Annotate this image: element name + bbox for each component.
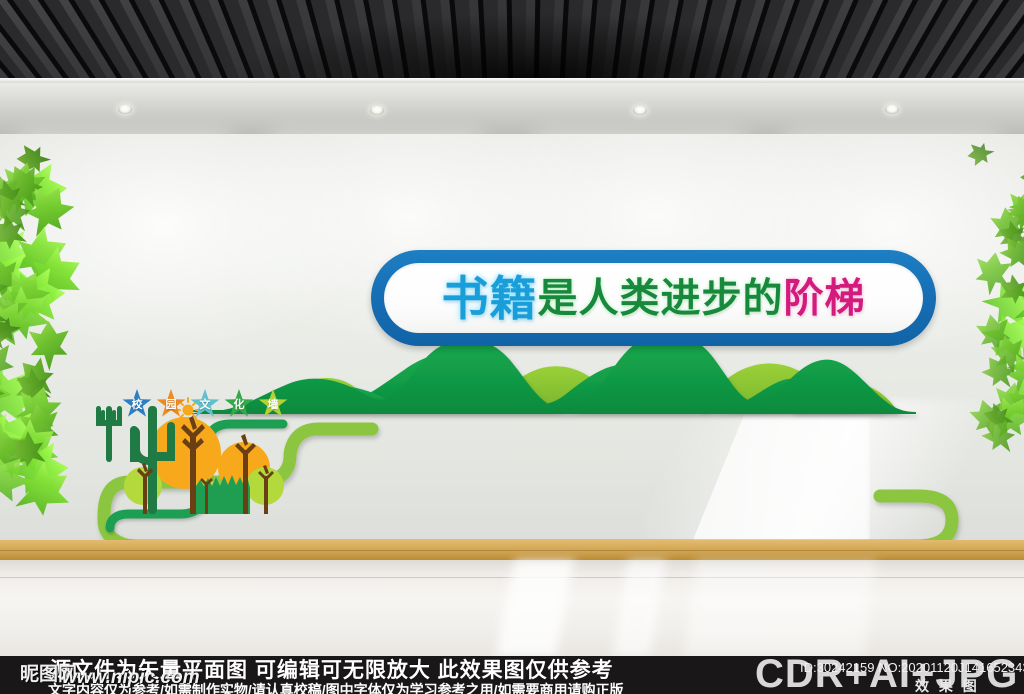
title-banner: 书籍是人类进步的阶梯 bbox=[371, 250, 936, 346]
screenshot-root: 书籍是人类进步的阶梯 校 园 文 化 墙 源文件为矢量平面图 可编辑可无限放大 … bbox=[0, 0, 1024, 694]
downlight-4 bbox=[885, 105, 899, 114]
soffit-panel bbox=[0, 78, 1024, 134]
star-badge-1-label: 校 bbox=[132, 400, 143, 411]
title-banner-inner: 书籍是人类进步的阶梯 bbox=[384, 263, 923, 333]
wall-graphic: 书籍是人类进步的阶梯 校 园 文 化 墙 bbox=[0, 134, 1024, 546]
wood-baseboard bbox=[0, 540, 1024, 560]
title-text: 书籍是人类进步的阶梯 bbox=[442, 275, 866, 322]
footer-id: ID:30242159 NO:20201120J141652343000 bbox=[800, 660, 1024, 675]
title-part-green: 是人类进步的 bbox=[538, 276, 784, 320]
star-badge-5-label: 墙 bbox=[268, 400, 279, 411]
ceiling-slat-gap bbox=[533, 0, 541, 78]
star-badge-2-label: 园 bbox=[166, 400, 177, 411]
star-badge-3-label: 文 bbox=[200, 400, 211, 411]
title-part-blue: 书籍 bbox=[442, 272, 538, 325]
downlight-2 bbox=[370, 106, 384, 115]
ceiling-slat-gap bbox=[506, 0, 514, 78]
downlight-3 bbox=[633, 106, 647, 115]
marble-floor bbox=[0, 560, 1024, 656]
star-badge-4-label: 化 bbox=[234, 400, 245, 411]
title-part-pink: 阶梯 bbox=[784, 276, 866, 320]
footer-render-label: 效 果 图 bbox=[915, 676, 980, 694]
floor-seam bbox=[0, 577, 1024, 578]
downlight-1 bbox=[118, 105, 132, 114]
footer-watermark-site: www.nipic.com bbox=[62, 667, 200, 689]
ceiling-slats bbox=[0, 0, 1024, 78]
footer-bar: 源文件为矢量平面图 可编辑可无限放大 此效果图仅供参考 文字内容仅为参考/如需制… bbox=[0, 656, 1024, 694]
soffit-edge-trim bbox=[0, 78, 1024, 83]
